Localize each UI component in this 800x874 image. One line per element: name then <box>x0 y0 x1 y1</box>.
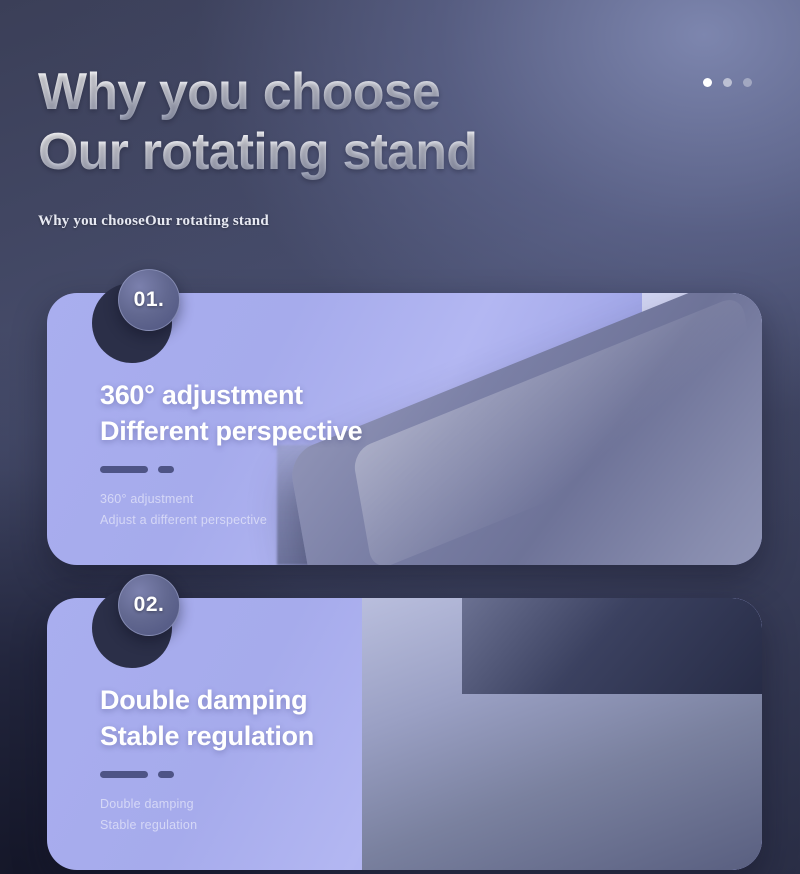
divider-dash-long <box>100 466 148 473</box>
photo-backdrop-panel <box>642 293 762 529</box>
page-subtitle: Why you chooseOur rotating stand <box>38 213 269 230</box>
heading-line-2: Our rotating stand <box>38 122 477 182</box>
card-1-subtext-line-2: Adjust a different perspective <box>100 510 362 530</box>
photo-plate-gloss <box>352 294 762 565</box>
divider-dash-short <box>158 771 174 778</box>
pagination-dots[interactable] <box>703 78 752 87</box>
card-1-title-line-2: Different perspective <box>100 413 362 449</box>
card-2-number-badge: 02. <box>118 574 180 636</box>
card-1-number-badge: 01. <box>118 269 180 331</box>
card-1-badge-label: 01. <box>134 288 165 312</box>
feature-card-1-text: 360° adjustment Different perspective 36… <box>100 377 362 530</box>
card-2-title-line-1: Double damping <box>100 682 314 718</box>
heading-line-1: Why you choose <box>38 62 477 122</box>
card-2-subtext-line-1: Double damping <box>100 794 314 814</box>
card-2-title-line-2: Stable regulation <box>100 718 314 754</box>
photo-hinge-dark-band <box>462 598 762 694</box>
card-1-subtext-line-1: 360° adjustment <box>100 489 362 509</box>
card-2-subtext: Double damping Stable regulation <box>100 794 314 835</box>
divider-dash-short <box>158 466 174 473</box>
photo-plate-edge <box>316 562 762 565</box>
feature-card-2-text: Double damping Stable regulation Double … <box>100 682 314 835</box>
card-2-badge-label: 02. <box>134 593 165 617</box>
card-2-divider <box>100 771 314 778</box>
card-1-subtext: 360° adjustment Adjust a different persp… <box>100 489 362 530</box>
card-2-subtext-line-2: Stable regulation <box>100 815 314 835</box>
promo-page: Why you choose Our rotating stand Why yo… <box>0 0 800 874</box>
pagination-dot-1[interactable] <box>703 78 712 87</box>
card-1-divider <box>100 466 362 473</box>
page-title: Why you choose Our rotating stand <box>38 62 477 183</box>
card-1-title-line-1: 360° adjustment <box>100 377 362 413</box>
pagination-dot-2[interactable] <box>723 78 732 87</box>
divider-dash-long <box>100 771 148 778</box>
pagination-dot-3[interactable] <box>743 78 752 87</box>
photo-hinge-background <box>362 598 762 870</box>
